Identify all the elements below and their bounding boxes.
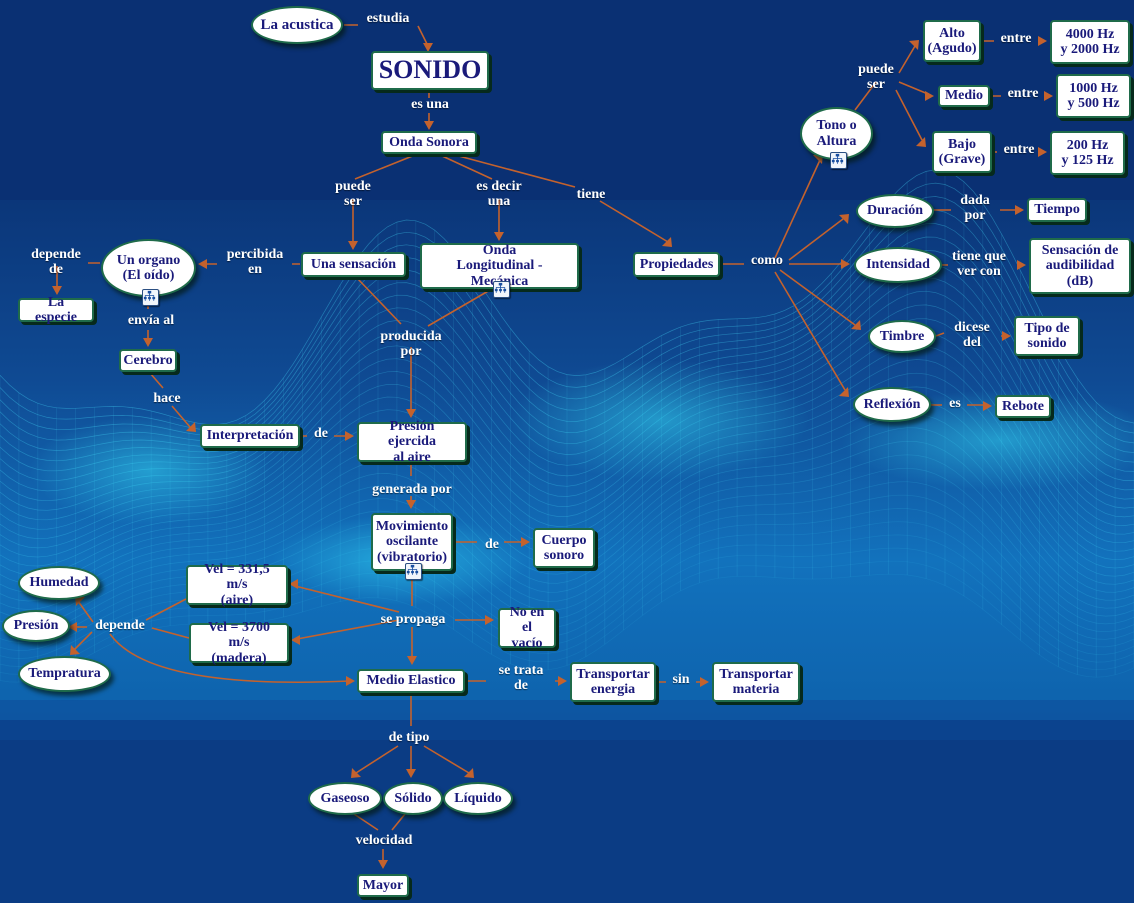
- node-duracion[interactable]: Duración: [856, 194, 934, 228]
- edge-e-ondalong-presion: [428, 290, 490, 326]
- link-label-puede-ser-1: puede ser: [329, 180, 377, 210]
- node-label-rebote: Rebote: [1002, 399, 1044, 414]
- submap-icon[interactable]: [405, 563, 422, 580]
- node-label-solido: Sólido: [394, 791, 431, 806]
- arrowhead-e-propaga-velmadera: [291, 635, 300, 645]
- node-la-especie[interactable]: La especie: [18, 298, 94, 322]
- node-label-humedad: Humedad: [29, 575, 88, 590]
- node-interpretacion[interactable]: Interpretación: [200, 424, 300, 448]
- edge-e-detipo-gaseoso: [356, 746, 398, 773]
- arrowhead-e-timbre-tipo: [1002, 331, 1011, 341]
- arrowhead-e-detipo-gaseoso: [351, 768, 361, 778]
- link-label-dicese-del: dicese del: [946, 321, 998, 351]
- arrowhead-e-alto-hz: [1038, 36, 1047, 46]
- node-label-cuerpo-sonoro: Cuerpo sonoro: [541, 533, 586, 563]
- submap-icon[interactable]: [493, 281, 510, 298]
- node-label-interpretacion: Interpretación: [207, 428, 294, 443]
- node-timbre[interactable]: Timbre: [868, 320, 936, 353]
- node-medio-elastico[interactable]: Medio Elastico: [357, 669, 465, 693]
- arrowhead-e-onda-sensacion: [348, 241, 358, 250]
- node-label-un-organo: Un organo (El oído): [117, 253, 180, 283]
- link-label-entre-1: entre: [996, 32, 1036, 47]
- edge-e-propaga-velaire: [295, 586, 399, 612]
- node-hz-4000-2000[interactable]: 4000 Hz y 2000 Hz: [1050, 20, 1130, 64]
- arrowhead-e-como-timbre: [851, 320, 861, 330]
- edge-e-ps-medio: [899, 82, 928, 94]
- node-transportar-energia[interactable]: Transportar energia: [570, 662, 656, 702]
- node-una-sensacion[interactable]: Una sensación: [301, 252, 406, 277]
- arrowhead-e-onda-propiedades: [662, 237, 672, 247]
- node-no-vacio[interactable]: No en el vacío: [498, 608, 556, 648]
- arrowhead-e-refl-rebote: [983, 401, 992, 411]
- edge-e-como-timbre: [780, 270, 855, 325]
- edge-e-ps-alto: [899, 46, 915, 73]
- node-label-sonido: SONIDO: [379, 56, 482, 84]
- node-label-una-sensacion: Una sensación: [311, 257, 396, 272]
- node-presion[interactable]: Presión: [2, 610, 70, 642]
- node-label-hz-4000-2000: 4000 Hz y 2000 Hz: [1060, 27, 1119, 57]
- node-hz-1000-500[interactable]: 1000 Hz y 500 Hz: [1056, 74, 1131, 118]
- node-medio[interactable]: Medio: [938, 85, 990, 107]
- node-alto-agudo[interactable]: Alto (Agudo): [923, 20, 981, 62]
- arrowhead-e-medio-transporta: [558, 676, 567, 686]
- node-label-onda-sonora: Onda Sonora: [389, 135, 469, 150]
- link-label-velocidad: velocidad: [348, 834, 420, 849]
- arrowhead-e-int-sens: [1017, 260, 1026, 270]
- arrowhead-e-cerebro-interp: [186, 422, 196, 432]
- node-tempratura[interactable]: Tempratura: [18, 656, 111, 692]
- edge-e-ps-bajo: [896, 90, 922, 140]
- node-label-la-acustica: La acustica: [261, 17, 334, 33]
- link-label-dada-por: dada por: [953, 194, 997, 224]
- link-label-producida-por: producida por: [375, 330, 447, 360]
- node-label-propiedades: Propiedades: [640, 257, 714, 272]
- arrowhead-e-organo-especie: [52, 286, 62, 295]
- edge-e-depende-temp: [74, 632, 92, 650]
- arrowhead-e-sonido-onda: [424, 121, 434, 130]
- link-label-de-interp: de: [310, 427, 332, 442]
- arrowhead-e-como-intensidad: [841, 259, 850, 269]
- node-label-transportar-energia: Transportar energia: [576, 667, 650, 697]
- node-label-mov-oscilante: Movimiento oscilante (vibratorio): [376, 519, 448, 564]
- node-onda-sonora[interactable]: Onda Sonora: [381, 131, 477, 154]
- node-hz-200-125[interactable]: 200 Hz y 125 Hz: [1050, 131, 1125, 175]
- edge-e-detipo-liquido: [424, 746, 469, 773]
- link-label-depende-de: depende de: [24, 248, 88, 278]
- link-label-es: es: [944, 397, 966, 412]
- node-label-presion-aire: Presión ejercida al aire: [365, 419, 459, 464]
- link-label-se-propaga: se propaga: [373, 613, 453, 628]
- node-liquido[interactable]: Líquido: [443, 782, 513, 815]
- node-tipo-sonido[interactable]: Tipo de sonido: [1014, 316, 1080, 356]
- link-label-depende: depende: [89, 619, 151, 634]
- arrowhead-e-propaga-medio: [407, 656, 417, 665]
- node-propiedades[interactable]: Propiedades: [633, 252, 720, 277]
- arrowhead-e-interp-presion: [345, 431, 354, 441]
- node-la-acustica[interactable]: La acustica: [251, 6, 343, 44]
- arrowhead-e-presion-mov: [406, 500, 416, 509]
- node-rebote[interactable]: Rebote: [995, 395, 1051, 418]
- node-label-hz-200-125: 200 Hz y 125 Hz: [1061, 138, 1113, 168]
- node-label-hz-1000-500: 1000 Hz y 500 Hz: [1067, 81, 1119, 111]
- node-label-vel-aire: Vel = 331,5 m/s (aire): [194, 562, 280, 607]
- node-sensacion-db[interactable]: Sensación de audibilidad (dB): [1029, 238, 1131, 294]
- node-label-liquido: Líquido: [454, 791, 501, 806]
- node-presion-aire[interactable]: Presión ejercida al aire: [357, 422, 467, 462]
- link-label-tiene-que-ver: tiene que ver con: [943, 250, 1015, 280]
- node-label-tono-altura: Tono o Altura: [816, 118, 856, 148]
- link-label-percibida-en: percibida en: [219, 248, 291, 278]
- arrowhead-e-depende-medio: [346, 676, 355, 686]
- arrowhead-e-bajo-hz: [1038, 147, 1047, 157]
- node-solido[interactable]: Sólido: [383, 782, 443, 815]
- edge-e-gaseoso-vel: [354, 814, 378, 830]
- node-label-medio: Medio: [945, 88, 983, 103]
- arrowhead-e-depende-temp: [70, 645, 80, 655]
- node-vel-aire[interactable]: Vel = 331,5 m/s (aire): [186, 565, 288, 605]
- arrowhead-e-mov-cuerpo: [521, 537, 530, 547]
- edge-e-solido-vel: [392, 814, 405, 830]
- link-label-estudia: estudia: [359, 12, 417, 27]
- node-vel-madera[interactable]: Vel = 3700 m/s (madera): [189, 623, 289, 663]
- link-label-hace: hace: [148, 392, 186, 407]
- link-label-puede-ser-2: puede ser: [851, 63, 901, 93]
- edge-e-como-duracion: [789, 219, 843, 260]
- edge-e-velaire-depende: [146, 599, 186, 620]
- arrowhead-e-ps-bajo: [916, 137, 926, 147]
- submap-icon[interactable]: [142, 289, 159, 306]
- concept-map-canvas: La acusticaSONIDOOnda SonoraUna sensació…: [0, 0, 1134, 903]
- link-label-generada-por: generada por: [366, 483, 458, 498]
- arrowhead-e-organo-cerebro: [143, 338, 153, 347]
- link-label-es-decir-una: es decir una: [467, 180, 531, 210]
- arrowhead-e-vel-mayor: [378, 860, 388, 869]
- link-label-envia-al: envía al: [123, 314, 179, 329]
- link-label-de-tipo: de tipo: [383, 731, 435, 746]
- node-mayor[interactable]: Mayor: [357, 874, 409, 897]
- arrowhead-e-ps-medio: [925, 91, 934, 101]
- arrowhead-e-detipo-solido: [406, 769, 416, 778]
- node-label-mayor: Mayor: [363, 878, 403, 893]
- arrowhead-e-como-duracion: [839, 214, 849, 224]
- link-label-sin: sin: [669, 673, 693, 688]
- node-label-duracion: Duración: [867, 203, 923, 218]
- node-label-timbre: Timbre: [880, 329, 925, 344]
- node-label-gaseoso: Gaseoso: [321, 791, 370, 806]
- node-bajo-grave[interactable]: Bajo (Grave): [932, 131, 992, 173]
- node-humedad[interactable]: Humedad: [18, 566, 100, 600]
- node-label-presion: Presión: [14, 618, 59, 633]
- link-label-entre-2: entre: [1003, 87, 1043, 102]
- node-transportar-materia[interactable]: Transportar materia: [712, 662, 800, 702]
- node-label-cerebro: Cerebro: [123, 353, 172, 368]
- node-label-vel-madera: Vel = 3700 m/s (madera): [197, 620, 281, 665]
- arrowhead-e-ps-alto: [909, 40, 919, 50]
- node-cuerpo-sonoro[interactable]: Cuerpo sonoro: [533, 528, 595, 568]
- node-label-intensidad: Intensidad: [866, 257, 930, 272]
- edge-e-como-tono: [775, 160, 820, 258]
- arrowhead-e-sens-presion: [406, 409, 416, 418]
- node-sonido[interactable]: SONIDO: [371, 51, 489, 90]
- edge-e-acustica-sonido: [344, 25, 428, 46]
- link-label-como: como: [746, 254, 788, 269]
- edge-e-velmadera-depende: [152, 628, 189, 638]
- node-label-no-vacio: No en el vacío: [506, 605, 548, 650]
- link-label-es-una: es una: [402, 98, 458, 113]
- node-tiempo[interactable]: Tiempo: [1027, 198, 1087, 222]
- node-label-la-especie: La especie: [26, 295, 86, 325]
- node-label-bajo-grave: Bajo (Grave): [939, 137, 986, 167]
- arrowhead-e-propaga-velaire: [289, 579, 298, 589]
- arrowhead-e-detipo-liquido: [464, 768, 474, 778]
- arrowhead-e-dur-tiempo: [1015, 205, 1024, 215]
- arrowhead-e-sens-organo: [198, 259, 207, 269]
- edge-e-como-reflexion: [775, 272, 845, 390]
- node-label-reflexion: Reflexión: [864, 397, 921, 412]
- arrowhead-e-propaga-novacio: [485, 615, 494, 625]
- node-label-tiempo: Tiempo: [1034, 202, 1080, 217]
- node-reflexion[interactable]: Reflexión: [853, 387, 931, 422]
- link-label-de-cuerpo: de: [481, 538, 503, 553]
- node-label-tempratura: Tempratura: [28, 666, 101, 681]
- node-label-alto-agudo: Alto (Agudo): [928, 26, 977, 56]
- arrowhead-e-onda-longitudinal: [494, 232, 504, 241]
- arrowhead-e-transp-materia: [700, 677, 709, 687]
- node-intensidad[interactable]: Intensidad: [854, 247, 942, 283]
- arrowhead-e-medio-hz: [1044, 91, 1053, 101]
- arrowhead-e-como-reflexion: [839, 387, 849, 397]
- node-cerebro[interactable]: Cerebro: [119, 349, 177, 372]
- submap-icon[interactable]: [830, 152, 847, 169]
- node-label-tipo-sonido: Tipo de sonido: [1024, 321, 1069, 351]
- link-label-se-trata-de: se trata de: [490, 664, 552, 694]
- node-label-transportar-materia: Transportar materia: [719, 667, 793, 697]
- link-label-tiene: tiene: [572, 188, 610, 203]
- link-label-entre-3: entre: [999, 143, 1039, 158]
- node-label-medio-elastico: Medio Elastico: [366, 673, 455, 688]
- node-label-sensacion-db: Sensación de audibilidad (dB): [1042, 243, 1119, 288]
- node-gaseoso[interactable]: Gaseoso: [308, 782, 382, 815]
